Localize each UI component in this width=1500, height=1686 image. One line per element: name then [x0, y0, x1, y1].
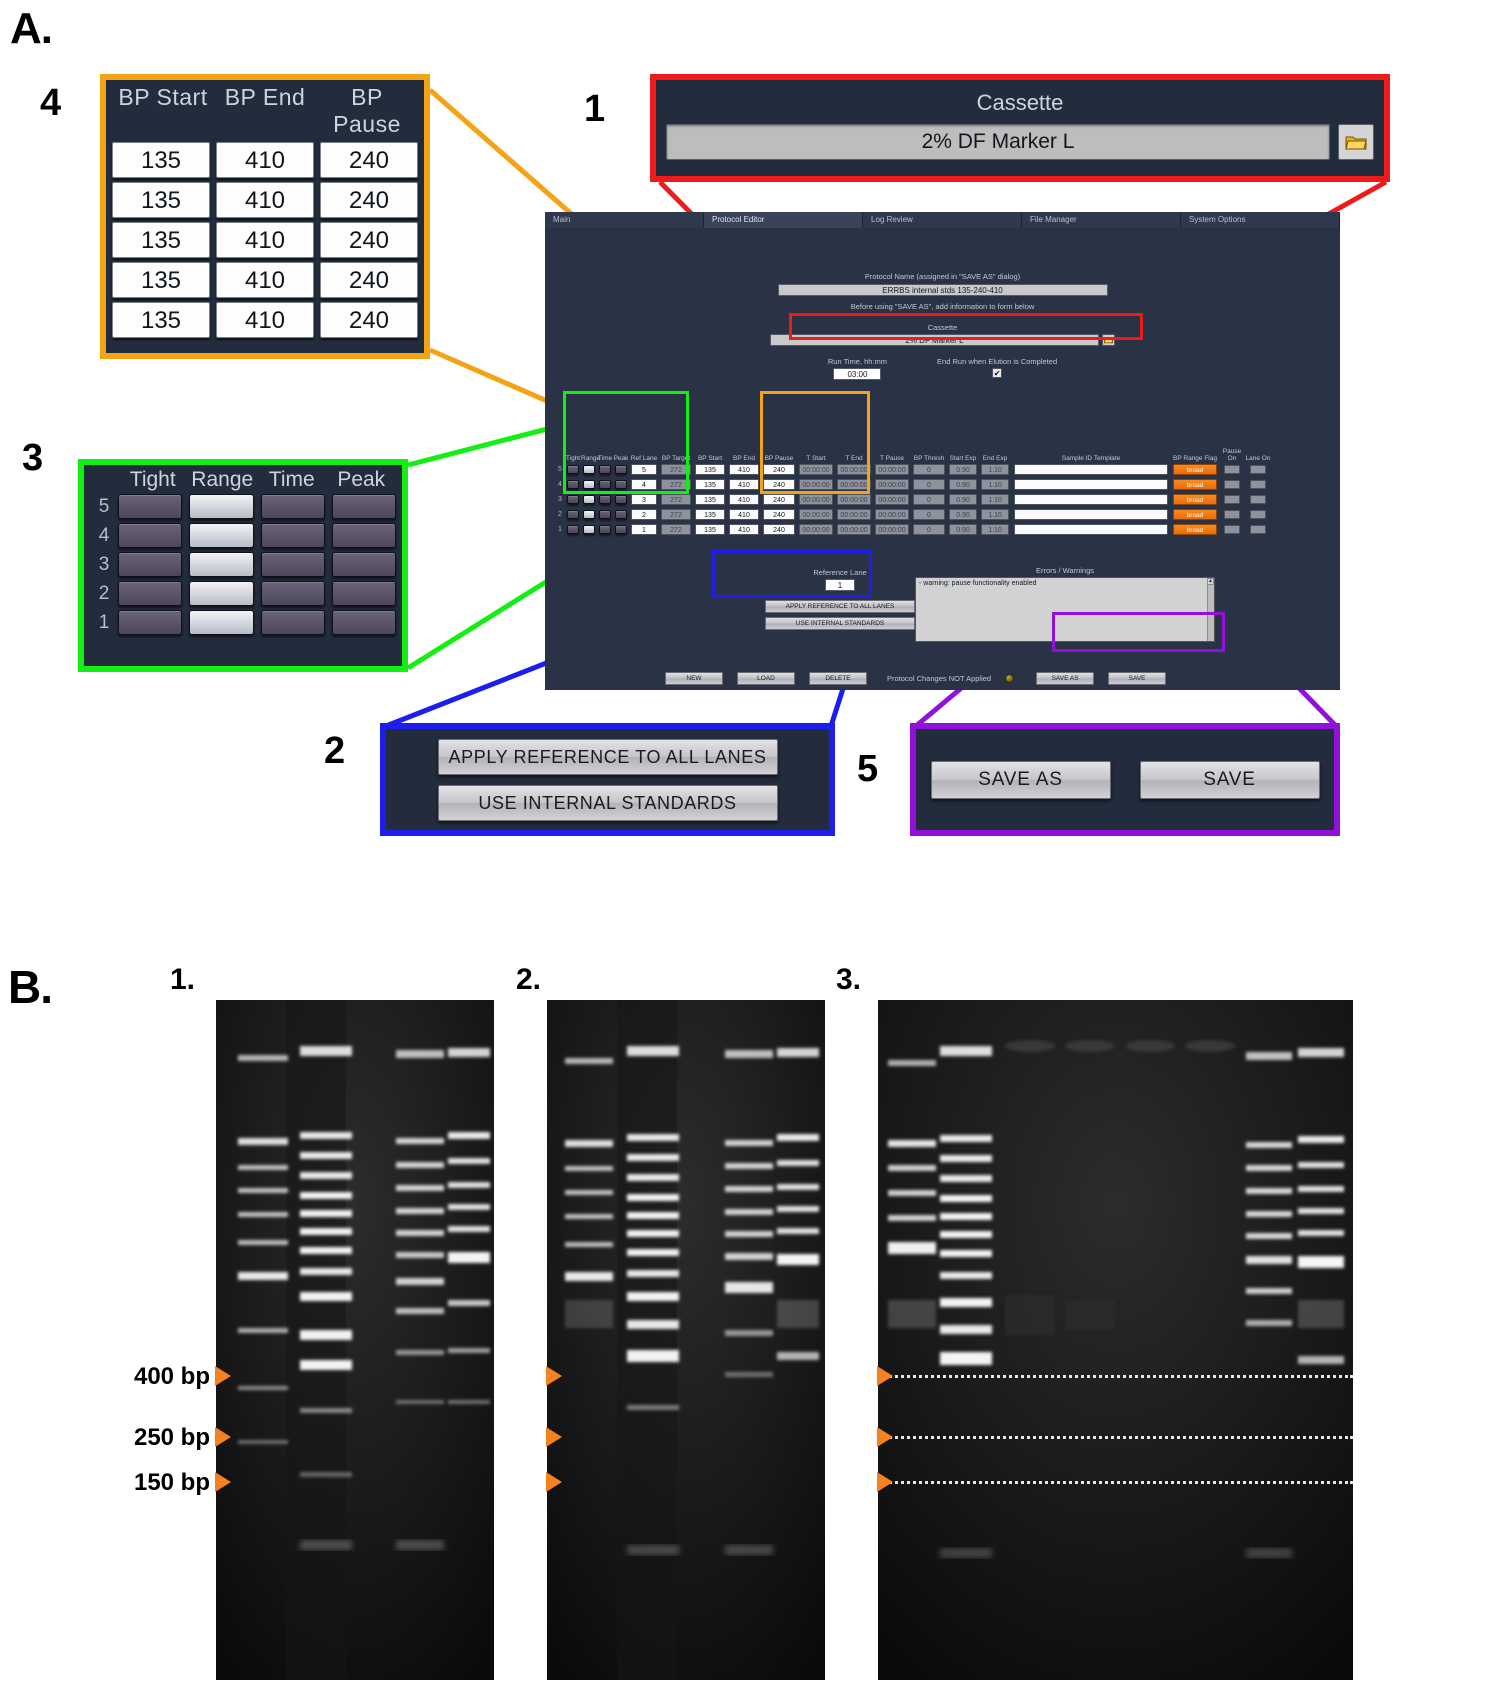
led-row-label: 4 [90, 525, 118, 547]
bp-header-pause: BP Pause [316, 84, 418, 138]
bp-start-field[interactable]: 135 [112, 222, 210, 258]
errors-warnings-text: - warning: pause functionality enabled [919, 580, 1037, 587]
bp-table-row: 135 410 240 [106, 140, 424, 180]
grid-led-peak[interactable] [615, 495, 627, 504]
grid-ref-lane[interactable]: 5 [631, 464, 657, 475]
gel-panel-number-1: 1. [170, 963, 195, 997]
grid-t-end: 00:00:00 [837, 494, 871, 505]
grid-end-exp: 1.10 [981, 494, 1009, 505]
led-range[interactable] [189, 552, 253, 577]
bp-table-row: 135 410 240 [106, 220, 424, 260]
grid-header-lane-on: Lane On [1245, 455, 1271, 462]
errors-warnings-label: Errors / Warnings [915, 566, 1215, 575]
led-row-label: 2 [90, 583, 118, 605]
folder-icon[interactable] [1102, 334, 1115, 346]
grid-led-time[interactable] [599, 480, 611, 489]
grid-pause-on-checkbox[interactable] [1224, 495, 1240, 504]
grid-t-start: 00:00:00 [799, 464, 833, 475]
grid-bp-pause[interactable]: 240 [763, 479, 795, 490]
grid-bp-range-flag[interactable]: broad [1173, 509, 1217, 520]
gel-image-1 [216, 1000, 494, 1680]
use-internal-standards-button[interactable]: USE INTERNAL STANDARDS [438, 785, 778, 821]
grid-lane-on-checkbox[interactable] [1250, 480, 1266, 489]
grid-led-peak[interactable] [615, 510, 627, 519]
use-internal-standards-button-app[interactable]: USE INTERNAL STANDARDS [765, 617, 915, 630]
grid-led-time[interactable] [599, 510, 611, 519]
grid-lane-on-checkbox[interactable] [1250, 465, 1266, 474]
grid-t-pause: 00:00:00 [875, 464, 909, 475]
bp-end-field[interactable]: 410 [216, 222, 314, 258]
grid-header-time: Time [597, 455, 613, 462]
callout-number-5: 5 [857, 748, 878, 791]
reference-lane-label: Reference Lane [750, 568, 930, 577]
cassette-select-app[interactable]: 2% DF Marker L [770, 334, 1099, 346]
bp-marker-arrow-400-gel1 [215, 1366, 231, 1386]
grid-led-peak[interactable] [615, 525, 627, 534]
grid-header-peak: Peak [613, 455, 629, 462]
bp-start-field[interactable]: 135 [112, 142, 210, 178]
grid-header-start-exp: Start Exp [947, 455, 979, 462]
grid-row: 4 4 272 135 410 240 00:00:00 00:00:00 00… [555, 477, 1271, 492]
grid-header-bp-pause: BP Pause [761, 455, 797, 462]
grid-header-bp-start: BP Start [693, 455, 727, 462]
led-matrix-row: 2 [84, 579, 402, 608]
led-time[interactable] [261, 610, 325, 635]
grid-bp-start[interactable]: 135 [695, 494, 725, 505]
led-peak[interactable] [332, 494, 396, 519]
grid-t-pause: 00:00:00 [875, 494, 909, 505]
bp-table-row: 135 410 240 [106, 260, 424, 300]
delete-button[interactable]: DELETE [809, 672, 867, 685]
grid-t-start: 00:00:00 [799, 509, 833, 520]
grid-header-row: Tight Range Time Peak Ref Lane BP Target… [555, 450, 1271, 462]
bp-label-150: 150 bp [120, 1469, 210, 1497]
grid-t-end: 00:00:00 [837, 524, 871, 535]
grid-end-exp: 1.10 [981, 479, 1009, 490]
grid-bp-pause[interactable]: 240 [763, 494, 795, 505]
grid-led-time[interactable] [599, 495, 611, 504]
bp-pause-field[interactable]: 240 [320, 302, 418, 338]
grid-pause-on-checkbox[interactable] [1224, 465, 1240, 474]
panel-b-letter: B. [8, 960, 52, 1014]
grid-bp-thresh: 0 [913, 464, 945, 475]
callout-number-4: 4 [40, 82, 61, 125]
bp-pause-field[interactable]: 240 [320, 262, 418, 298]
grid-t-end: 00:00:00 [837, 509, 871, 520]
bp-end-field[interactable]: 410 [216, 302, 314, 338]
grid-sample-id[interactable] [1014, 509, 1168, 520]
run-time-field[interactable]: 03:00 [833, 368, 881, 380]
grid-led-range[interactable] [583, 495, 595, 504]
figure-root: A. B. 4 3 2 1 5 BP Start BP End BP Pause… [0, 0, 1500, 1686]
grid-row-label: 1 [555, 526, 565, 533]
bp-start-field[interactable]: 135 [112, 182, 210, 218]
bp-table-header: BP Start BP End BP Pause [106, 80, 424, 140]
grid-bp-start[interactable]: 135 [695, 464, 725, 475]
grid-bp-thresh: 0 [913, 479, 945, 490]
grid-led-range[interactable] [583, 525, 595, 534]
save-button[interactable]: SAVE [1140, 761, 1320, 799]
grid-bp-thresh: 0 [913, 494, 945, 505]
led-range[interactable] [189, 494, 253, 519]
reference-line-250bp [878, 1436, 1353, 1439]
save-button-app[interactable]: SAVE [1108, 672, 1166, 685]
errors-warnings-textarea[interactable]: - warning: pause functionality enabled ▲ [915, 577, 1215, 642]
end-run-checkbox[interactable]: ✔ [992, 368, 1002, 378]
grid-t-end: 00:00:00 [837, 479, 871, 490]
save-as-button-app[interactable]: SAVE AS [1036, 672, 1094, 685]
end-run-label: End Run when Elution is Completed [937, 357, 1057, 366]
grid-bp-thresh: 0 [913, 509, 945, 520]
grid-header-sample-id: Sample ID Template [1011, 455, 1171, 462]
grid-end-exp: 1.10 [981, 464, 1009, 475]
led-row-label: 3 [90, 554, 118, 576]
grid-ref-lane[interactable]: 3 [631, 494, 657, 505]
grid-t-start: 00:00:00 [799, 494, 833, 505]
grid-led-range[interactable] [583, 480, 595, 489]
apply-reference-to-all-lanes-button-app[interactable]: APPLY REFERENCE TO ALL LANES [765, 600, 915, 613]
led-time[interactable] [261, 552, 325, 577]
grid-bp-range-flag[interactable]: broad [1173, 524, 1217, 535]
callout-box-bp-table: BP Start BP End BP Pause 135 410 240 135… [100, 74, 430, 359]
grid-led-range[interactable] [583, 465, 595, 474]
callout-box-reference-buttons: APPLY REFERENCE TO ALL LANES USE INTERNA… [380, 723, 835, 836]
panel-a-letter: A. [10, 4, 52, 54]
grid-sample-id[interactable] [1014, 479, 1168, 490]
grid-led-peak[interactable] [615, 480, 627, 489]
reference-line-400bp [878, 1375, 1353, 1378]
grid-bp-thresh: 0 [913, 524, 945, 535]
bp-header-start: BP Start [112, 84, 214, 138]
grid-sample-id[interactable] [1014, 494, 1168, 505]
folder-icon[interactable] [1338, 124, 1374, 160]
grid-led-tight[interactable] [567, 495, 579, 504]
grid-led-peak[interactable] [615, 465, 627, 474]
new-button[interactable]: NEW [665, 672, 723, 685]
grid-row-label: 3 [555, 496, 565, 503]
callout-number-2: 2 [324, 730, 345, 773]
grid-pause-on-checkbox[interactable] [1224, 510, 1240, 519]
apply-reference-to-all-lanes-button[interactable]: APPLY REFERENCE TO ALL LANES [438, 739, 778, 775]
grid-row: 1 1 272 135 410 240 00:00:00 00:00:00 00… [555, 522, 1271, 537]
led-matrix-row: 1 [84, 608, 402, 637]
bp-start-field[interactable]: 135 [112, 262, 210, 298]
grid-bp-end[interactable]: 410 [729, 479, 759, 490]
bp-label-250: 250 bp [120, 1424, 210, 1452]
callout-box-led-matrix: Tight Range Time Peak 5 4 3 [78, 459, 408, 672]
grid-header-range: Range [581, 455, 597, 462]
bp-table-row: 135 410 240 [106, 300, 424, 340]
cassette-select[interactable]: 2% DF Marker L [666, 124, 1330, 160]
led-peak[interactable] [332, 610, 396, 635]
save-as-button[interactable]: SAVE AS [931, 761, 1111, 799]
led-tight[interactable] [118, 552, 182, 577]
grid-header-t-start: T Start [797, 455, 835, 462]
led-tight[interactable] [118, 523, 182, 548]
grid-t-start: 00:00:00 [799, 479, 833, 490]
grid-end-exp: 1.10 [981, 524, 1009, 535]
tab-system-options[interactable]: System Options [1181, 212, 1340, 228]
grid-ref-lane[interactable]: 2 [631, 509, 657, 520]
bp-marker-arrow-150-gel1 [215, 1472, 231, 1492]
led-peak[interactable] [332, 552, 396, 577]
grid-row: 2 2 272 135 410 240 00:00:00 00:00:00 00… [555, 507, 1271, 522]
grid-bp-range-flag[interactable]: broad [1173, 494, 1217, 505]
grid-bp-target: 272 [661, 494, 691, 505]
grid-header-t-pause: T Pause [873, 455, 911, 462]
grid-t-start: 00:00:00 [799, 524, 833, 535]
grid-bp-target: 272 [661, 509, 691, 520]
status-led-icon [1005, 674, 1014, 683]
led-peak[interactable] [332, 523, 396, 548]
grid-ref-lane[interactable]: 4 [631, 479, 657, 490]
tab-file-manager[interactable]: File Manager [1022, 212, 1181, 228]
grid-row-label: 5 [555, 466, 565, 473]
grid-pause-on-checkbox[interactable] [1224, 480, 1240, 489]
led-row-label: 1 [90, 612, 118, 634]
tab-log-review[interactable]: Log Review [863, 212, 1022, 228]
reference-line-150bp [878, 1481, 1353, 1484]
run-time-label: Run Time, hh:mm [828, 357, 887, 366]
grid-start-exp: 0.90 [949, 494, 977, 505]
grid-led-tight[interactable] [567, 465, 579, 474]
bp-marker-arrow-400-gel3 [877, 1366, 893, 1386]
callout-number-1: 1 [584, 88, 605, 131]
gel-panel-number-3: 3. [836, 963, 861, 997]
grid-lane-on-checkbox[interactable] [1250, 525, 1266, 534]
bp-end-field[interactable]: 410 [216, 262, 314, 298]
led-matrix-row: 4 [84, 521, 402, 550]
bp-end-field[interactable]: 410 [216, 182, 314, 218]
grid-row-label: 2 [555, 511, 565, 518]
grid-t-pause: 00:00:00 [875, 479, 909, 490]
callout-box-save-buttons: SAVE AS SAVE [910, 723, 1340, 836]
bp-pause-field[interactable]: 240 [320, 182, 418, 218]
grid-bp-target: 272 [661, 479, 691, 490]
bp-marker-arrow-400-gel2 [546, 1366, 562, 1386]
protocol-name-field[interactable]: ERRBS internal stds 135-240-410 [778, 284, 1108, 296]
protocol-name-label: Protocol Name (assigned in "SAVE AS" dia… [545, 272, 1340, 281]
gel-image-2 [547, 1000, 825, 1680]
grid-bp-start[interactable]: 135 [695, 479, 725, 490]
bp-pause-field[interactable]: 240 [320, 222, 418, 258]
led-header-time: Time [257, 468, 327, 492]
tab-main[interactable]: Main [545, 212, 704, 228]
grid-bp-end[interactable]: 410 [729, 464, 759, 475]
led-time[interactable] [261, 494, 325, 519]
grid-start-exp: 0.90 [949, 524, 977, 535]
grid-ref-lane[interactable]: 1 [631, 524, 657, 535]
led-tight[interactable] [118, 581, 182, 606]
grid-bp-range-flag[interactable]: broad [1173, 464, 1217, 475]
grid-bp-pause[interactable]: 240 [763, 464, 795, 475]
led-time[interactable] [261, 581, 325, 606]
grid-bp-end[interactable]: 410 [729, 524, 759, 535]
grid-led-tight[interactable] [567, 525, 579, 534]
led-range[interactable] [189, 523, 253, 548]
led-range[interactable] [189, 610, 253, 635]
grid-t-pause: 00:00:00 [875, 524, 909, 535]
tab-bar: Main Protocol Editor Log Review File Man… [545, 212, 1340, 228]
grid-header-bp-thresh: BP Thresh [911, 455, 947, 462]
grid-header-bp-end: BP End [727, 455, 761, 462]
cassette-label: Cassette [656, 80, 1384, 124]
grid-bp-target: 272 [661, 524, 691, 535]
grid-header-tight: Tight [565, 455, 581, 462]
led-matrix-header: Tight Range Time Peak [84, 465, 402, 492]
led-tight[interactable] [118, 494, 182, 519]
grid-start-exp: 0.90 [949, 464, 977, 475]
save-as-hint: Before using "SAVE AS", add information … [545, 302, 1340, 311]
led-time[interactable] [261, 523, 325, 548]
grid-end-exp: 1.10 [981, 509, 1009, 520]
bp-start-field[interactable]: 135 [112, 302, 210, 338]
grid-led-time[interactable] [599, 525, 611, 534]
grid-bp-end[interactable]: 410 [729, 494, 759, 505]
grid-header-ref-lane: Ref Lane [629, 455, 659, 462]
gel-image-3 [878, 1000, 1353, 1680]
grid-bp-target: 272 [661, 464, 691, 475]
bp-end-field[interactable]: 410 [216, 142, 314, 178]
chevron-up-icon[interactable]: ▲ [1207, 578, 1214, 585]
grid-header-bp-target: BP Target [659, 455, 693, 462]
bp-pause-field[interactable]: 240 [320, 142, 418, 178]
grid-led-time[interactable] [599, 465, 611, 474]
callout-box-cassette: Cassette 2% DF Marker L [650, 74, 1390, 182]
grid-header-end-exp: End Exp [979, 455, 1011, 462]
grid-bp-start[interactable]: 135 [695, 509, 725, 520]
grid-lane-on-checkbox[interactable] [1250, 495, 1266, 504]
gel-panel-number-2: 2. [516, 963, 541, 997]
protocol-editor-application: Main Protocol Editor Log Review File Man… [545, 212, 1340, 690]
grid-row: 3 3 272 135 410 240 00:00:00 00:00:00 00… [555, 492, 1271, 507]
grid-pause-on-checkbox[interactable] [1224, 525, 1240, 534]
grid-bp-range-flag[interactable]: broad [1173, 479, 1217, 490]
led-header-range: Range [188, 468, 258, 492]
grid-header-pause-on: Pause On [1219, 448, 1245, 462]
errors-scrollbar[interactable] [1207, 578, 1214, 641]
grid-header-t-end: T End [835, 455, 873, 462]
reference-lane-field[interactable]: 1 [825, 579, 855, 591]
cassette-label-app: Cassette [545, 323, 1340, 332]
grid-row: 5 5 272 135 410 240 00:00:00 00:00:00 00… [555, 462, 1271, 477]
bp-marker-arrow-250-gel1 [215, 1427, 231, 1447]
led-matrix-row: 3 [84, 550, 402, 579]
grid-led-range[interactable] [583, 510, 595, 519]
grid-led-tight[interactable] [567, 510, 579, 519]
grid-start-exp: 0.90 [949, 509, 977, 520]
grid-lane-on-checkbox[interactable] [1250, 510, 1266, 519]
reference-lane-block: Reference Lane 1 APPLY REFERENCE TO ALL … [750, 568, 930, 630]
bp-table-row: 135 410 240 [106, 180, 424, 220]
bp-label-400: 400 bp [120, 1363, 210, 1391]
grid-bp-start[interactable]: 135 [695, 524, 725, 535]
led-matrix-row: 5 [84, 492, 402, 521]
grid-led-tight[interactable] [567, 480, 579, 489]
load-button[interactable]: LOAD [737, 672, 795, 685]
led-row-label: 5 [90, 496, 118, 518]
grid-bp-pause[interactable]: 240 [763, 524, 795, 535]
led-header-peak: Peak [327, 468, 397, 492]
grid-t-end: 00:00:00 [837, 464, 871, 475]
grid-bp-pause[interactable]: 240 [763, 509, 795, 520]
grid-row-label: 4 [555, 481, 565, 488]
grid-sample-id[interactable] [1014, 464, 1168, 475]
tab-protocol-editor[interactable]: Protocol Editor [704, 212, 863, 228]
led-peak[interactable] [332, 581, 396, 606]
grid-header-bp-range-flag: BP Range Flag [1171, 455, 1219, 462]
protocol-changes-status: Protocol Changes NOT Applied [887, 674, 991, 683]
bp-marker-arrow-250-gel2 [546, 1427, 562, 1447]
bp-marker-arrow-250-gel3 [877, 1427, 893, 1447]
led-header-tight: Tight [118, 468, 188, 492]
bp-marker-arrow-150-gel2 [546, 1472, 562, 1492]
led-range[interactable] [189, 581, 253, 606]
bp-header-end: BP End [214, 84, 316, 138]
bp-marker-arrow-150-gel3 [877, 1472, 893, 1492]
lane-parameter-grid: Tight Range Time Peak Ref Lane BP Target… [555, 450, 1271, 537]
grid-sample-id[interactable] [1014, 524, 1168, 535]
grid-bp-end[interactable]: 410 [729, 509, 759, 520]
grid-start-exp: 0.90 [949, 479, 977, 490]
led-tight[interactable] [118, 610, 182, 635]
grid-t-pause: 00:00:00 [875, 509, 909, 520]
callout-number-3: 3 [22, 437, 43, 480]
